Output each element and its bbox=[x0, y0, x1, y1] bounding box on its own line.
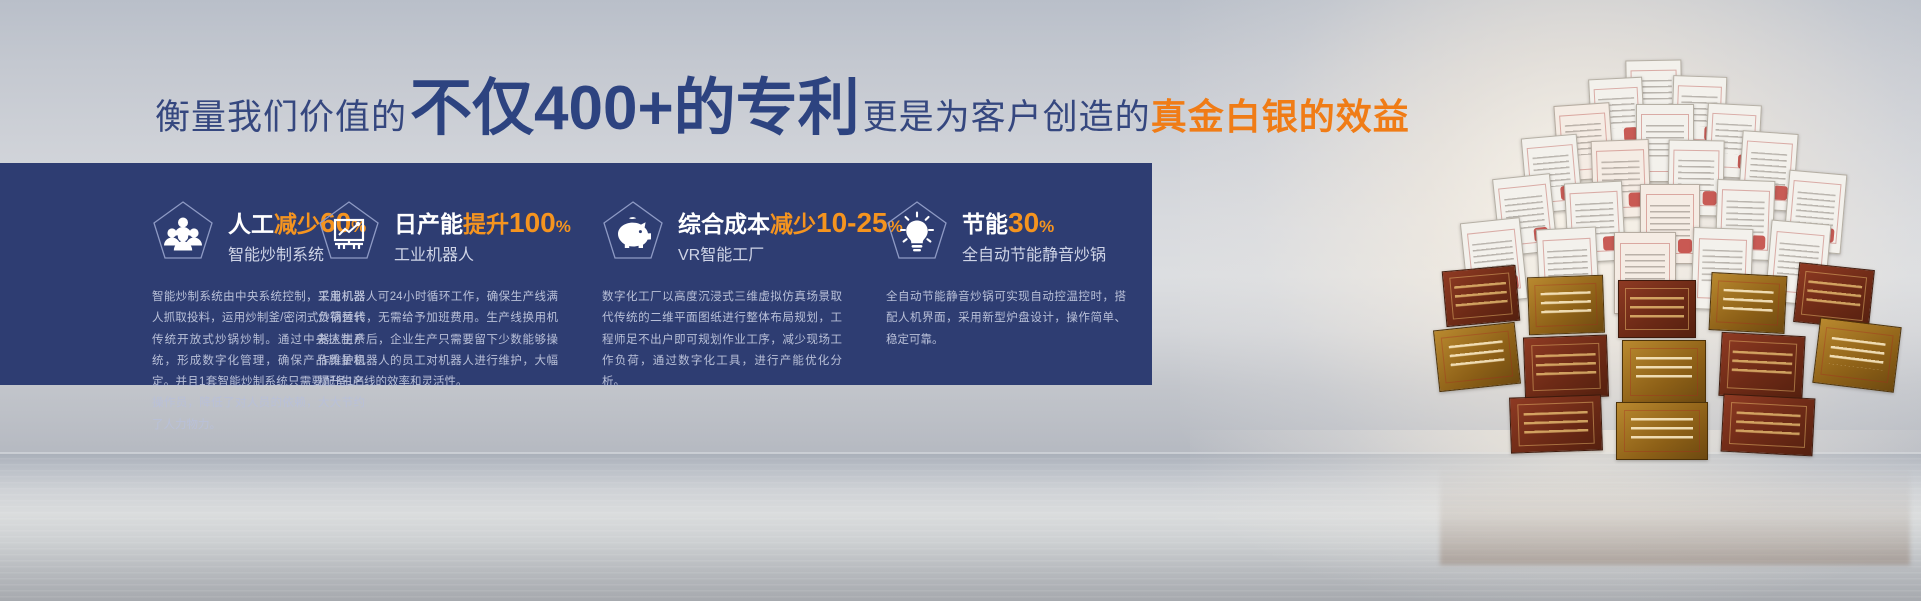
feature-body: 工业机器人可24小时循环工作，确保生产线满负荷运转，无需给予加班费用。生产线换用… bbox=[318, 287, 558, 393]
feature-header: 人工减少60% 智能炒制系统 bbox=[152, 204, 258, 265]
feature-title-highlight: 提升 bbox=[463, 211, 509, 237]
headline-prefix: 衡量我们价值的 bbox=[155, 89, 407, 140]
feature-title-highlight: 减少 bbox=[770, 211, 816, 237]
feature-header: 节能30% 全自动节能静音炒锅 bbox=[886, 204, 1122, 265]
feature-title-prefix: 节能 bbox=[962, 211, 1008, 237]
feature-body: 数字化工厂以高度沉浸式三维虚拟仿真场景取代传统的二维平面图纸进行整体布局规划，工… bbox=[602, 287, 842, 393]
feature-title-number: 30 bbox=[1008, 207, 1039, 238]
headline-emphasis: 不仅400+的专利 bbox=[410, 78, 860, 140]
feature-title-number: 100 bbox=[509, 207, 556, 238]
banner-stage: 衡量我们价值的 不仅400+的专利 更是为客户创造的 真金白银的效益 bbox=[0, 0, 1921, 601]
feature-item-labor: 人工减少60% 智能炒制系统 智能炒制系统由中央系统控制，采用机器人抓取投料，运… bbox=[0, 163, 288, 385]
feature-title-unit: % bbox=[556, 217, 571, 236]
piggy-bank-icon bbox=[602, 200, 664, 264]
feature-titles: 节能30% 全自动节能静音炒锅 bbox=[962, 204, 1106, 265]
feature-title-prefix: 综合成本 bbox=[678, 211, 770, 237]
feature-header: 日产能提升100% 工业机器人 bbox=[318, 204, 546, 265]
feature-body: 全自动节能静音炒锅可实现自动控温控时，搭配人机界面，采用新型炉盘设计，操作简单、… bbox=[886, 287, 1126, 351]
feature-item-cost: 综合成本减少10-25% VR智能工厂 数字化工厂以高度沉浸式三维虚拟仿真场景取… bbox=[576, 163, 864, 385]
feature-titles: 日产能提升100% 工业机器人 bbox=[394, 204, 571, 265]
headline-accent: 真金白银的效益 bbox=[1151, 88, 1410, 140]
feature-title-prefix: 日产能 bbox=[394, 211, 463, 237]
feature-item-energy: 节能30% 全自动节能静音炒锅 全自动节能静音炒锅可实现自动控温控时，搭配人机界… bbox=[864, 163, 1152, 385]
headline: 衡量我们价值的 不仅400+的专利 更是为客户创造的 真金白银的效益 bbox=[155, 78, 1410, 140]
feature-list: 人工减少60% 智能炒制系统 智能炒制系统由中央系统控制，采用机器人抓取投料，运… bbox=[0, 163, 1152, 385]
feature-title: 节能30% bbox=[962, 208, 1106, 239]
feature-item-capacity: 日产能提升100% 工业机器人 工业机器人可24小时循环工作，确保生产线满负荷运… bbox=[288, 163, 576, 385]
feature-title-prefix: 人工 bbox=[228, 211, 274, 237]
feature-panel: 人工减少60% 智能炒制系统 智能炒制系统由中央系统控制，采用机器人抓取投料，运… bbox=[0, 163, 1152, 385]
lightbulb-icon bbox=[886, 200, 948, 264]
team-people-icon bbox=[152, 200, 214, 264]
certificate-stack bbox=[1440, 60, 1910, 530]
feature-subtitle: 工业机器人 bbox=[394, 246, 571, 265]
chart-board-icon bbox=[318, 200, 380, 264]
feature-title-unit: % bbox=[1039, 217, 1054, 236]
feature-header: 综合成本减少10-25% VR智能工厂 bbox=[602, 204, 834, 265]
feature-title: 日产能提升100% bbox=[394, 208, 571, 239]
feature-subtitle: 全自动节能静音炒锅 bbox=[962, 246, 1106, 265]
headline-middle: 更是为客户创造的 bbox=[863, 89, 1151, 140]
